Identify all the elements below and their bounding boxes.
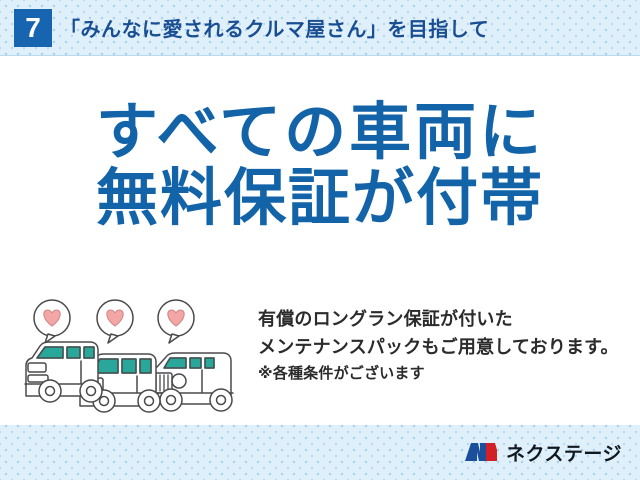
heart-bubble-2 [97, 300, 133, 343]
body-copy-line-2: メンテナンスパックもご用意しております。 [258, 334, 630, 362]
body-copy-note: ※各種条件がございます [258, 362, 630, 385]
banner-root: 7 「みんなに愛されるクルマ屋さん」を目指して すべての車両に 無料保証が付帯 [0, 0, 640, 480]
brand-lockup: ネクステージ [464, 437, 622, 467]
body-copy-line-1: 有償のロングラン保証が付いた [258, 306, 630, 334]
nexstage-n-logo-icon [464, 440, 498, 464]
cars-illustration-svg [18, 296, 248, 414]
header-band: 7 「みんなに愛されるクルマ屋さん」を目指して [0, 0, 640, 56]
section-number-badge: 7 [14, 9, 52, 47]
lower-content-row: 有償のロングラン保証が付いた メンテナンスパックもご用意しております。 ※各種条… [0, 296, 640, 421]
heart-bubble-1 [34, 300, 70, 343]
content-card: すべての車両に 無料保証が付帯 [0, 56, 640, 425]
heart-bubble-3 [158, 300, 194, 343]
footer-band: ネクステージ [0, 425, 640, 480]
headline: すべての車両に 無料保証が付帯 [0, 100, 640, 231]
car-kei-van [25, 342, 102, 402]
body-copy: 有償のロングラン保証が付いた メンテナンスパックもご用意しております。 ※各種条… [258, 306, 630, 385]
brand-name: ネクステージ [506, 439, 622, 466]
header-title: 「みんなに愛されるクルマ屋さん」を目指して [60, 13, 489, 42]
cars-illustration [18, 296, 248, 414]
headline-line-1: すべての車両に [0, 100, 640, 166]
headline-line-2: 無料保証が付帯 [0, 166, 640, 232]
